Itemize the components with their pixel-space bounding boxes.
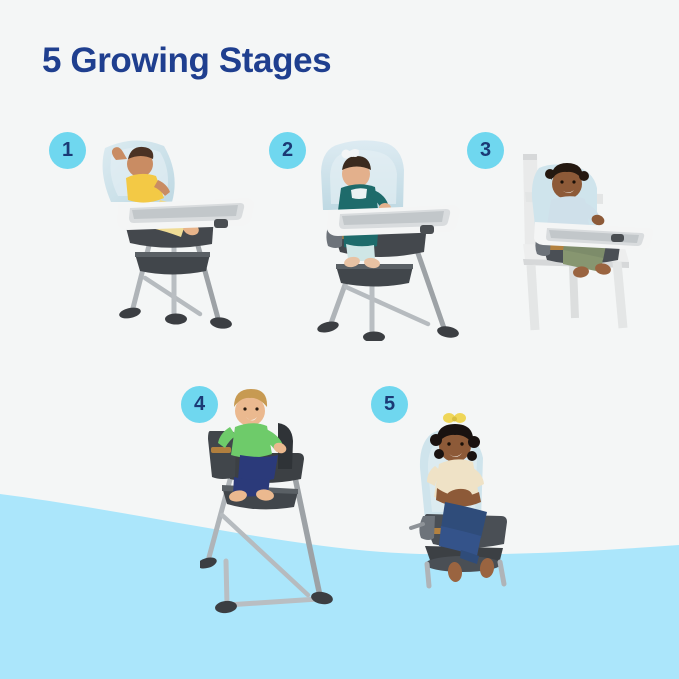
stage-badge-1-label: 1 bbox=[62, 140, 73, 160]
stage-badge-5-label: 5 bbox=[384, 394, 395, 414]
stage-figure-1 bbox=[88, 126, 263, 331]
stage-figure-2 bbox=[300, 126, 475, 341]
stage-figure-5 bbox=[405, 398, 555, 593]
stage-badge-3[interactable]: 3 bbox=[467, 132, 504, 169]
stage-badge-2-label: 2 bbox=[282, 140, 293, 160]
stage-badge-1[interactable]: 1 bbox=[49, 132, 86, 169]
growing-stages-infographic: 5 Growing Stages 1 bbox=[0, 0, 679, 679]
stage-figure-3 bbox=[505, 132, 660, 337]
page-title: 5 Growing Stages bbox=[42, 41, 331, 81]
stage-badge-3-label: 3 bbox=[480, 140, 491, 160]
stage-badge-5[interactable]: 5 bbox=[371, 386, 408, 423]
stage-figure-4 bbox=[200, 383, 355, 623]
